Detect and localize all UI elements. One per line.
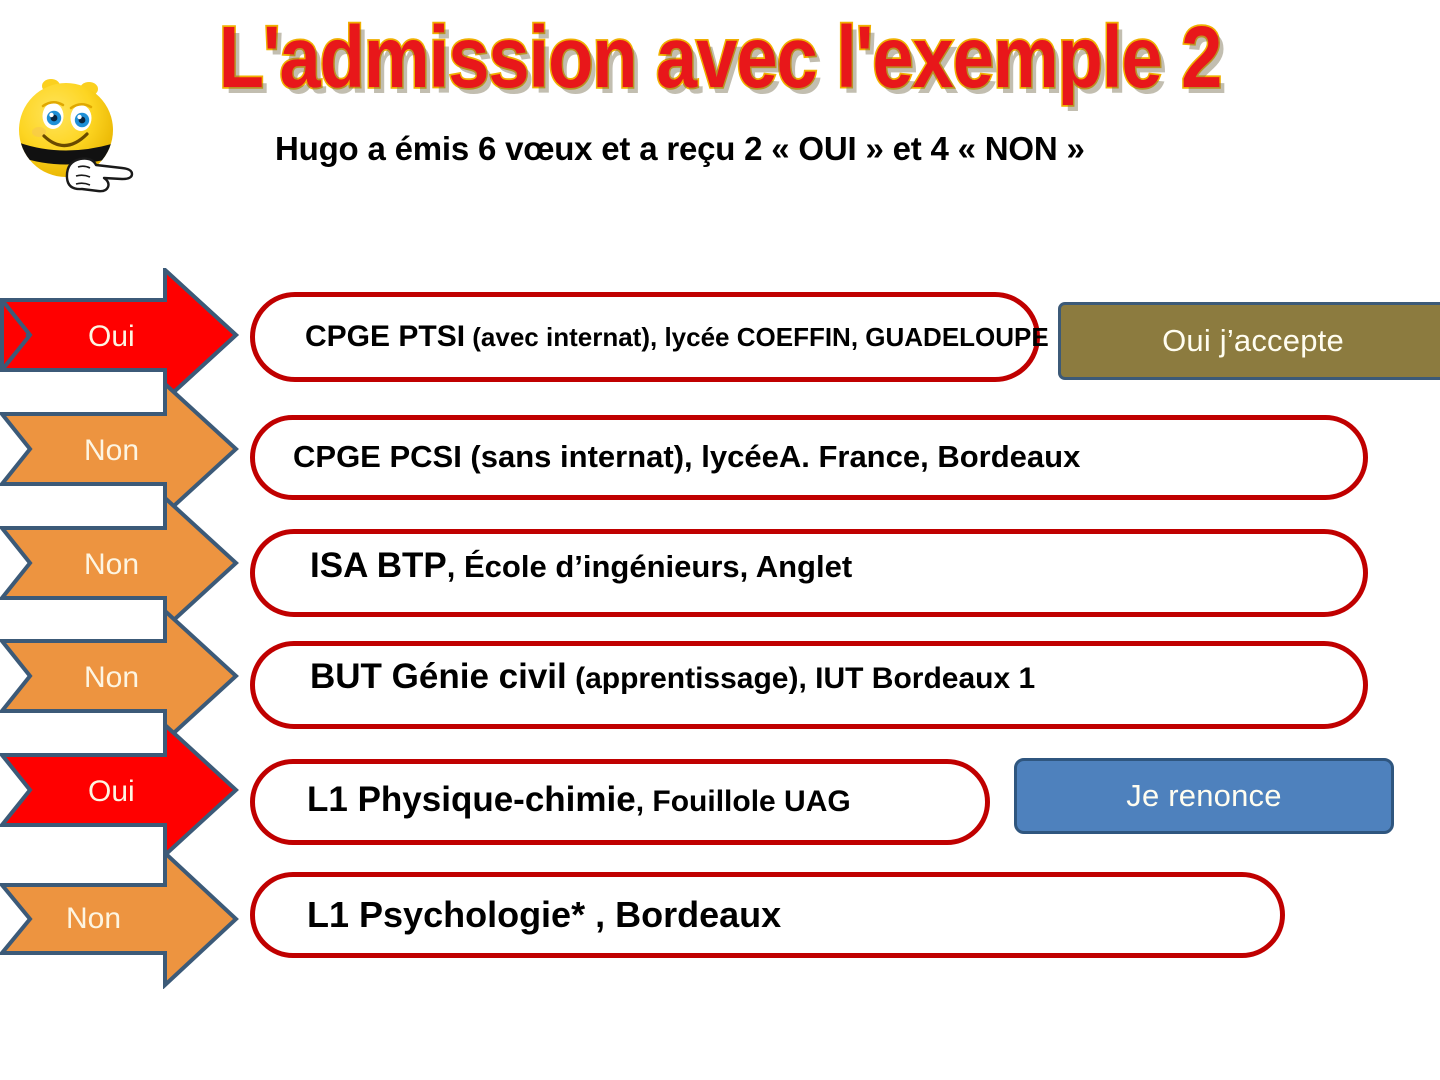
option-sub-1: (avec internat), lycée COEFFIN, GUADELOU…	[465, 322, 1049, 352]
option-sub-4: (apprentissage), IUT Bordeaux 1	[567, 662, 1035, 695]
option-box-5[interactable]: L1 Physique-chimie, Fouillole UAG	[250, 759, 990, 845]
option-box-3[interactable]: ISA BTP, École d’ingénieurs, Anglet	[250, 529, 1368, 617]
decline-button[interactable]: Je renonce	[1014, 758, 1394, 834]
option-text-5: L1 Physique-chimie, Fouillole UAG	[255, 782, 851, 819]
page-title: L'admission avec l'exemple 2	[0, 14, 1440, 101]
option-text-4: BUT Génie civil (apprentissage), IUT Bor…	[255, 659, 1035, 696]
subtitle-text: Hugo a émis 6 vœux et a reçu 2 « OUI » e…	[275, 130, 1235, 168]
option-box-6[interactable]: L1 Psychologie* , Bordeaux	[250, 872, 1285, 958]
option-main-4: BUT Génie civil	[310, 657, 567, 696]
option-main-6: L1 Psychologie* , Bordeaux	[307, 894, 781, 935]
option-main-1: CPGE PTSI	[305, 320, 465, 353]
option-text-2: CPGE PCSI (sans internat), lycéeA. Franc…	[255, 441, 1080, 474]
accept-button[interactable]: Oui j’accepte	[1058, 302, 1440, 380]
option-box-2[interactable]: CPGE PCSI (sans internat), lycéeA. Franc…	[250, 415, 1368, 500]
decline-button-label: Je renonce	[1126, 778, 1281, 814]
option-main-3: ISA BTP	[310, 546, 447, 585]
option-box-1[interactable]: CPGE PTSI (avec internat), lycée COEFFIN…	[250, 292, 1040, 382]
option-text-3: ISA BTP, École d’ingénieurs, Anglet	[255, 548, 852, 585]
option-sub-3: , École d’ingénieurs, Anglet	[447, 549, 852, 584]
option-main-5: L1 Physique-chimie	[307, 780, 636, 819]
option-main-2: CPGE PCSI (sans internat), lycéeA. Franc…	[293, 439, 1080, 474]
decision-arrow-6[interactable]: Non	[0, 849, 240, 989]
option-box-4[interactable]: BUT Génie civil (apprentissage), IUT Bor…	[250, 641, 1368, 729]
option-text-6: L1 Psychologie* , Bordeaux	[255, 896, 781, 934]
decision-arrow-5[interactable]: Oui	[0, 723, 240, 857]
option-sub-5: , Fouillole UAG	[636, 785, 851, 818]
option-text-1: CPGE PTSI (avec internat), lycée COEFFIN…	[255, 321, 1049, 353]
accept-button-label: Oui j’accepte	[1162, 323, 1344, 359]
